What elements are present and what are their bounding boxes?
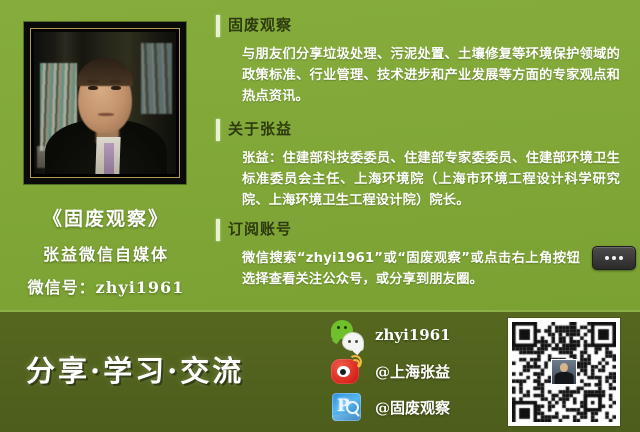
magnifier-icon <box>346 401 359 414</box>
section-header: 关于张益 <box>214 118 640 144</box>
section-accent-bar <box>216 119 220 141</box>
section-body-text: 张益：住建部科技委委员、住建部专家委委员、住建部环境卫生标准委员会主任、上海环境… <box>242 148 620 211</box>
wechat-bubble-front <box>342 332 364 351</box>
section-body-text: 微信搜索“zhyi1961”或“固废观察”或点击右上角按钮选择查看关注公众号，或… <box>242 248 580 290</box>
more-options-button[interactable] <box>592 246 636 270</box>
section-title: 固废观察 <box>228 14 292 36</box>
photo-eyebrow-left <box>87 80 98 82</box>
section-header: 订阅账号 <box>214 218 640 244</box>
wechat-dot <box>348 340 351 343</box>
portrait-caption-subtitle: 张益微信自媒体 <box>0 241 212 265</box>
section-body-text: 与朋友们分享垃圾处理、污泥处置、土壤修复等环境保护领域的政策标准、行业管理、技术… <box>242 44 620 107</box>
left-column: 《固废观察》 张益微信自媒体 微信号：zhyi1961 <box>0 0 212 312</box>
photo-mouth <box>98 113 114 116</box>
social-label: @固废观察 <box>375 397 450 418</box>
portrait-photo <box>34 32 176 174</box>
social-label: zhyi1961 <box>375 326 451 344</box>
section-title: 关于张益 <box>228 118 292 140</box>
qr-portrait-face <box>560 363 568 372</box>
qr-code[interactable] <box>508 318 620 426</box>
portrait-frame <box>24 22 186 184</box>
social-accounts-list: zhyi1961 @上海张益 P @固废观察 <box>330 313 500 432</box>
weibo-icon <box>330 354 364 388</box>
wechat-dot <box>344 326 347 329</box>
right-column: 固废观察 与朋友们分享垃圾处理、污泥处置、土壤修复等环境保护领域的政策标准、行业… <box>214 0 640 312</box>
weibo-pupil <box>340 369 346 375</box>
social-row-blue[interactable]: P @固废观察 <box>330 389 450 425</box>
blue-search-icon: P <box>330 390 364 424</box>
wechat-dot <box>337 326 340 329</box>
wechat-dot <box>355 340 358 343</box>
section-header: 固废观察 <box>214 14 640 40</box>
more-dot-icon <box>612 256 616 260</box>
more-dot-icon <box>605 256 609 260</box>
section-subscribe: 订阅账号 微信搜索“zhyi1961”或“固废观察”或点击右上角按钮选择查看关注… <box>214 218 640 290</box>
section-about-zhangyi: 关于张益 张益：住建部科技委委员、住建部专家委委员、住建部环境卫生标准委员会主任… <box>214 118 640 211</box>
more-dot-icon <box>619 256 623 260</box>
social-row-wechat[interactable]: zhyi1961 <box>330 317 451 353</box>
photo-eyebrow-right <box>110 80 121 82</box>
portrait-inner-border <box>30 28 180 178</box>
photo-bookshelf-right <box>141 43 172 114</box>
promo-poster: 《固废观察》 张益微信自媒体 微信号：zhyi1961 固废观察 与朋友们分享垃… <box>0 0 640 432</box>
section-title: 订阅账号 <box>228 218 292 240</box>
qr-center-portrait <box>552 360 576 384</box>
social-label: @上海张益 <box>375 361 450 382</box>
social-row-weibo[interactable]: @上海张益 <box>330 353 450 389</box>
footer-slogan: 分享·学习·交流 <box>26 348 244 390</box>
section-accent-bar <box>216 219 220 241</box>
photo-tie <box>104 143 114 174</box>
section-accent-bar <box>216 15 220 37</box>
qr-portrait-body <box>555 372 574 384</box>
wechat-icon <box>330 318 364 352</box>
portrait-caption-title: 《固废观察》 <box>0 204 212 231</box>
section-about-account: 固废观察 与朋友们分享垃圾处理、污泥处置、土壤修复等环境保护领域的政策标准、行业… <box>214 14 640 107</box>
portrait-caption-wechat-id: 微信号：zhyi1961 <box>0 274 212 298</box>
qr-center-logo <box>551 359 577 385</box>
